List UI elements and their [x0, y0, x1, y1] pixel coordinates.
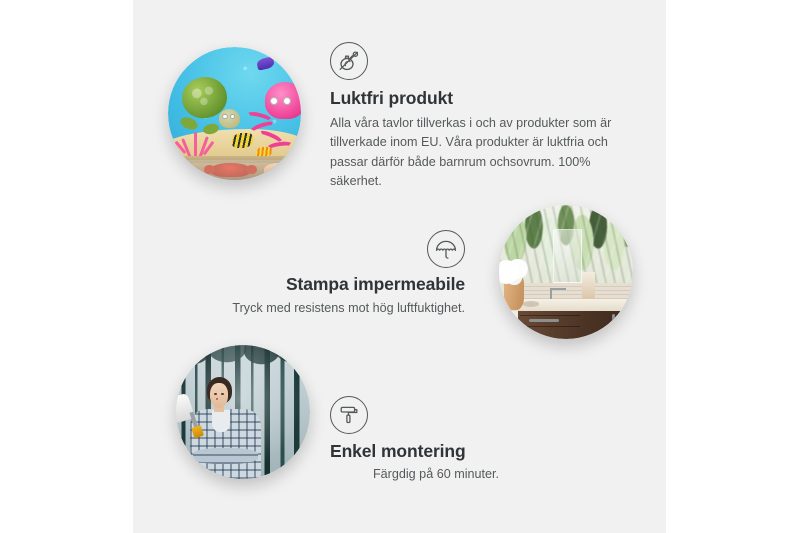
feature-block-waterproof: Stampa impermeabile Tryck med resistens … [180, 230, 465, 318]
feature-title: Luktfri produkt [330, 88, 626, 109]
sea-turtle [179, 76, 240, 132]
photo-bathroom-inner [499, 205, 633, 339]
feature-body: Alla våra tavlor tillverkas i och av pro… [330, 114, 626, 191]
paint-roller-icon [330, 396, 368, 434]
photo-underwater-mural [168, 47, 301, 180]
pink-octopus [245, 82, 301, 154]
umbrella-icon [427, 230, 465, 268]
soap-dish [523, 301, 539, 306]
mirror [553, 229, 582, 283]
octopus-head [265, 82, 301, 119]
folded-arms [193, 448, 258, 463]
feature-block-odourless: Luktfri produkt Alla våra tavlor tillver… [330, 42, 626, 191]
white-flowers [499, 259, 531, 286]
drawer-handle [529, 319, 559, 322]
photo-decorator-inner [176, 345, 310, 479]
soap-dispenser [582, 272, 595, 301]
feature-body: Färgdig på 60 minuter. [330, 465, 560, 484]
photo-bathroom-vanity-mural [499, 205, 633, 339]
smile [216, 398, 218, 399]
feature-title: Enkel montering [330, 441, 560, 462]
framed-print-strip [187, 160, 283, 180]
feature-block-easy-mounting: Enkel montering Färgdig på 60 minuter. [330, 396, 560, 484]
feature-title: Stampa impermeabile [180, 274, 465, 295]
door-handle [612, 314, 615, 328]
photo-underwater-inner [168, 47, 301, 180]
feature-body: Tryck med resistens mot hög luftfuktighe… [180, 299, 465, 318]
no-odour-perfume-bottle-icon [330, 42, 368, 80]
wooden-cabinet [518, 311, 633, 339]
screenshot-root: Luktfri produkt Alla våra tavlor tillver… [0, 0, 800, 533]
photo-decorator-forest-mural [176, 345, 310, 479]
turtle-head [219, 109, 240, 128]
